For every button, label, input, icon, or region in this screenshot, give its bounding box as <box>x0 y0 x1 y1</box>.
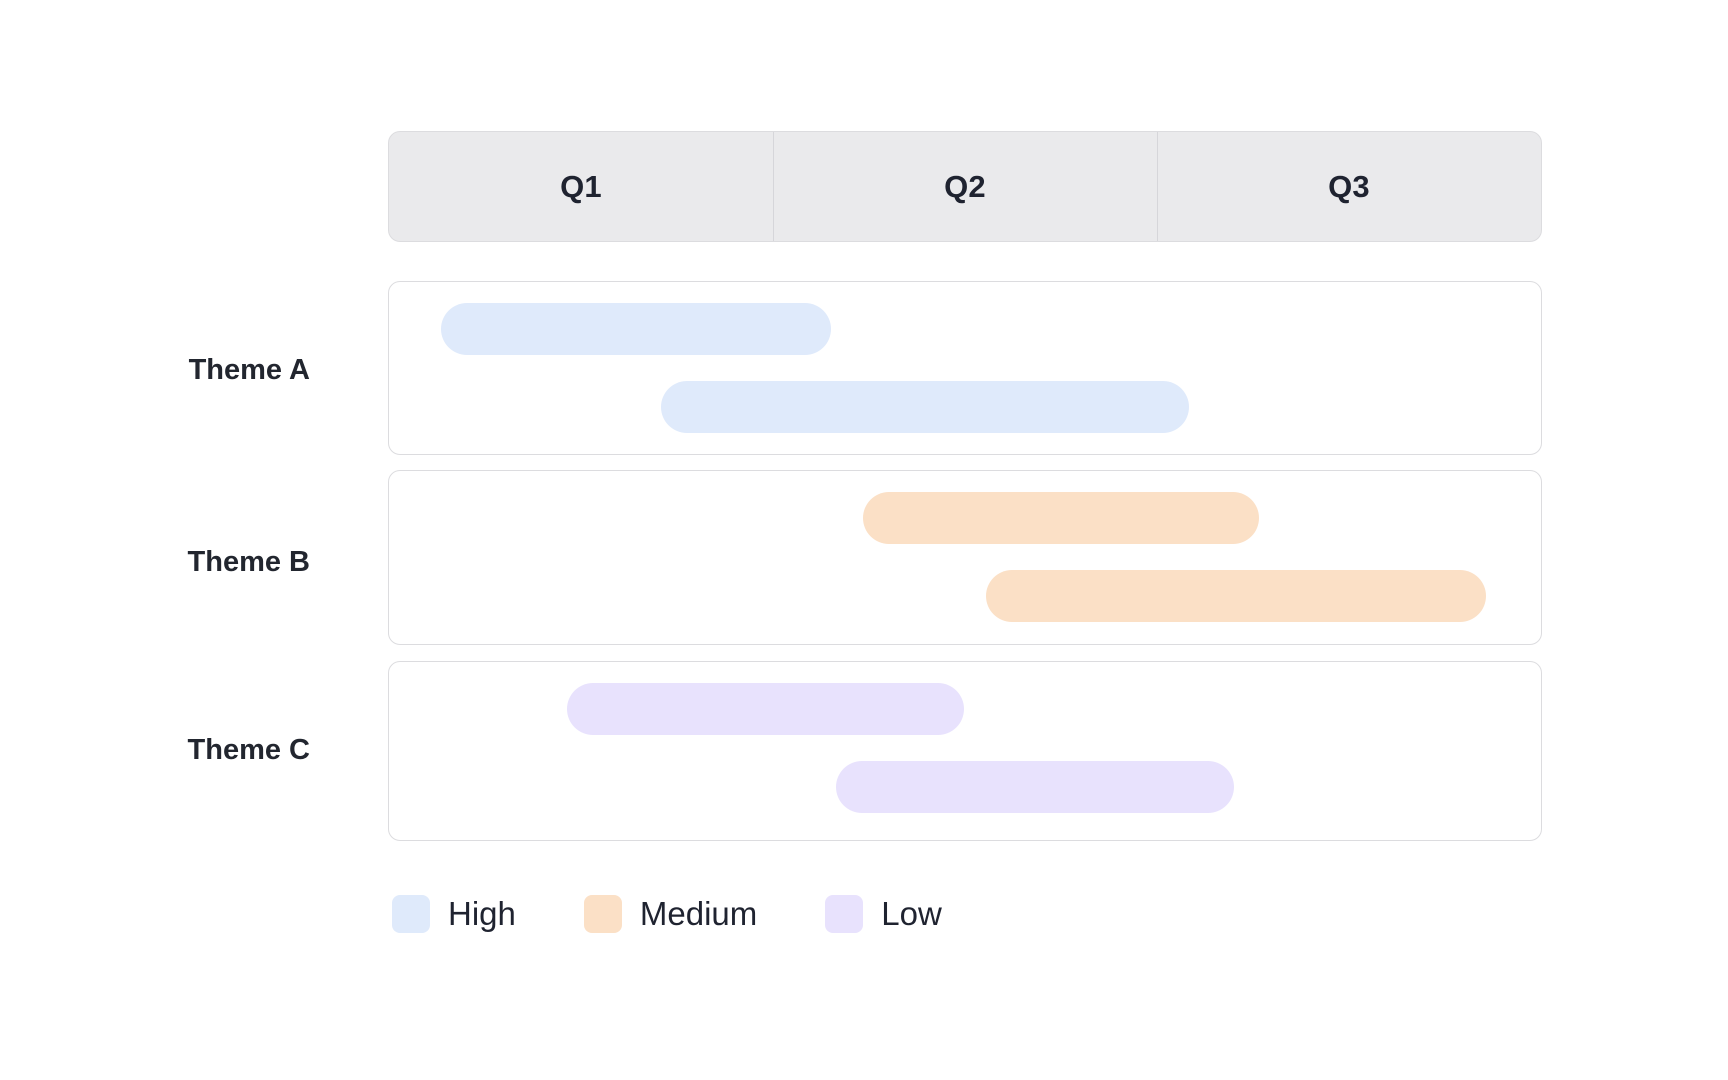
theme-label-a: Theme A <box>0 354 350 387</box>
task-bar[interactable] <box>836 761 1234 813</box>
quarter-column-q3: Q3 <box>1157 132 1541 241</box>
task-bar[interactable] <box>567 683 964 735</box>
legend-label: Medium <box>640 895 757 933</box>
legend-label: Low <box>881 895 942 933</box>
legend: High Medium Low <box>392 895 1010 933</box>
roadmap-chart: Q1 Q2 Q3 Theme A Theme B Theme C High Me… <box>0 0 1728 1080</box>
quarter-label: Q3 <box>1328 169 1370 205</box>
quarter-column-q1: Q1 <box>389 132 773 241</box>
theme-row-a <box>388 281 1542 455</box>
legend-item-low[interactable]: Low <box>825 895 942 933</box>
legend-item-medium[interactable]: Medium <box>584 895 757 933</box>
timeline-header: Q1 Q2 Q3 <box>388 131 1542 242</box>
legend-swatch-icon <box>584 895 622 933</box>
quarter-label: Q2 <box>944 169 986 205</box>
legend-swatch-icon <box>392 895 430 933</box>
theme-label-c: Theme C <box>0 734 350 767</box>
theme-label-b: Theme B <box>0 546 350 579</box>
theme-row-c <box>388 661 1542 841</box>
task-bar[interactable] <box>661 381 1189 433</box>
task-bar[interactable] <box>986 570 1486 622</box>
legend-swatch-icon <box>825 895 863 933</box>
quarter-label: Q1 <box>560 169 602 205</box>
quarter-column-q2: Q2 <box>773 132 1157 241</box>
task-bar[interactable] <box>441 303 831 355</box>
legend-item-high[interactable]: High <box>392 895 516 933</box>
task-bar[interactable] <box>863 492 1259 544</box>
legend-label: High <box>448 895 516 933</box>
theme-row-b <box>388 470 1542 645</box>
